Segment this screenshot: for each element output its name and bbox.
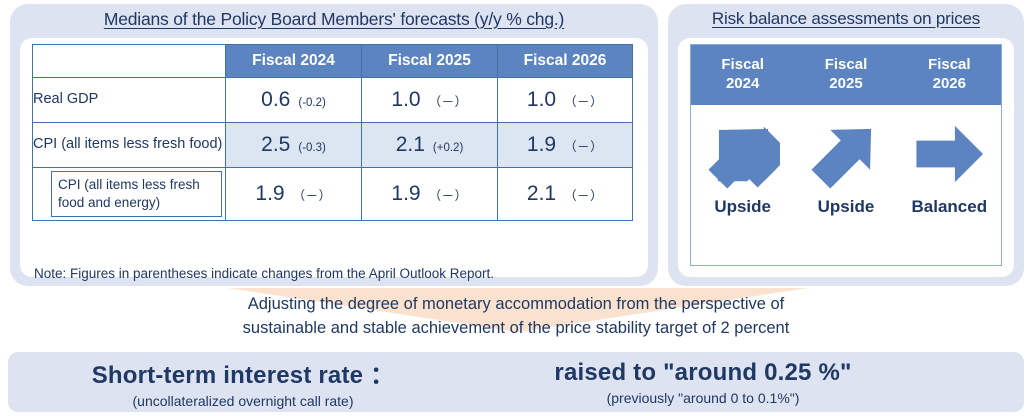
table-header-row: Fiscal 2024 Fiscal 2025 Fiscal 2026 bbox=[33, 45, 633, 78]
change: (-0.2) bbox=[298, 97, 325, 109]
risk-label-fiscal-2026: Balanced bbox=[912, 197, 988, 217]
policy-rate-bar: Short-term interest rate ： (uncollateral… bbox=[8, 352, 1024, 412]
table-corner-cell bbox=[33, 45, 226, 78]
risk-column-header-fiscal-2026: Fiscal 2026 bbox=[898, 45, 1001, 105]
change: （－） bbox=[564, 185, 603, 204]
cell-cpi-core-2026: 2.1 （－） bbox=[498, 168, 633, 221]
change: (-0.3) bbox=[298, 142, 325, 154]
value: 2.1 bbox=[396, 133, 425, 157]
table-note: Note: Figures in parentheses indicate ch… bbox=[34, 266, 494, 281]
risk-label-fiscal-2024: Upside bbox=[714, 197, 771, 217]
value: 1.9 bbox=[255, 182, 284, 206]
arrow-up-right-icon bbox=[706, 115, 780, 193]
row-label-cpi-less-fresh-food: CPI (all items less fresh food) bbox=[33, 123, 226, 168]
cell-real-gdp-2026: 1.0 （－） bbox=[498, 78, 633, 123]
risk-cell-fiscal-2024: Upside bbox=[691, 105, 794, 265]
risk-column-header-fiscal-2024: Fiscal 2024 bbox=[691, 45, 794, 105]
cell-cpi-2024: 2.5 (-0.3) bbox=[226, 123, 362, 168]
change: （－） bbox=[293, 185, 332, 204]
value: 2.1 bbox=[527, 182, 556, 206]
middle-caption-line1: Adjusting the degree of monetary accommo… bbox=[0, 293, 1032, 317]
table-row: CPI (all items less fresh food) 2.5 (-0.… bbox=[33, 123, 633, 168]
top-panels-area: Medians of the Policy Board Members' for… bbox=[0, 0, 1032, 288]
risk-balance-panel: Risk balance assessments on prices Fisca… bbox=[668, 4, 1024, 286]
risk-column-header-fiscal-2025: Fiscal 2025 bbox=[794, 45, 897, 105]
short-term-rate-sublabel: (uncollateralized overnight call rate) bbox=[8, 393, 478, 409]
forecast-panel-title: Medians of the Policy Board Members' for… bbox=[10, 4, 658, 30]
risk-balance-panel-title: Risk balance assessments on prices bbox=[668, 4, 1024, 29]
risk-body-row: Upside Upside bbox=[691, 105, 1001, 265]
risk-header-line2: 2025 bbox=[829, 75, 862, 94]
cell-real-gdp-2024: 0.6 (-0.2) bbox=[226, 78, 362, 123]
forecast-card: Fiscal 2024 Fiscal 2025 Fiscal 2026 Real… bbox=[20, 38, 648, 277]
change: （－） bbox=[564, 136, 603, 155]
row-label-real-gdp: Real GDP bbox=[33, 78, 226, 123]
risk-cell-fiscal-2026: Balanced bbox=[898, 105, 1001, 265]
cell-cpi-2025: 2.1 (+0.2) bbox=[362, 123, 498, 168]
cell-cpi-core-2024: 1.9 （－） bbox=[226, 168, 362, 221]
risk-balance-table: Fiscal 2024 Fiscal 2025 Fiscal 2026 bbox=[690, 44, 1002, 266]
middle-caption-area: Adjusting the degree of monetary accommo… bbox=[0, 288, 1032, 350]
column-header-fiscal-2025: Fiscal 2025 bbox=[362, 45, 498, 78]
middle-caption: Adjusting the degree of monetary accommo… bbox=[0, 293, 1032, 341]
risk-header-line1: Fiscal bbox=[928, 56, 971, 75]
risk-header-row: Fiscal 2024 Fiscal 2025 Fiscal 2026 bbox=[691, 45, 1001, 105]
rate-decision-value: raised to "around 0.25 %" bbox=[478, 359, 928, 387]
cell-cpi-core-2025: 1.9 （－） bbox=[362, 168, 498, 221]
table-row: Real GDP 0.6 (-0.2) 1.0 （－） bbox=[33, 78, 633, 123]
table-row: CPI (all items less fresh food and energ… bbox=[33, 168, 633, 221]
risk-header-line2: 2024 bbox=[726, 75, 759, 94]
value: 1.9 bbox=[391, 182, 420, 206]
change: （－） bbox=[564, 91, 603, 110]
cell-cpi-2026: 1.9 （－） bbox=[498, 123, 633, 168]
risk-header-line2: 2026 bbox=[933, 75, 966, 94]
middle-caption-line2: sustainable and stable achievement of th… bbox=[0, 317, 1032, 341]
change: (+0.2) bbox=[433, 142, 463, 154]
value: 1.9 bbox=[527, 133, 556, 157]
rate-decision-previous: (previously "around 0 to 0.1%") bbox=[478, 390, 928, 406]
row-label-cpi-less-fresh-food-energy-cell: CPI (all items less fresh food and energ… bbox=[33, 168, 226, 221]
column-header-fiscal-2024: Fiscal 2024 bbox=[226, 45, 362, 78]
column-header-fiscal-2026: Fiscal 2026 bbox=[498, 45, 633, 78]
risk-header-line1: Fiscal bbox=[825, 56, 868, 75]
risk-header-line1: Fiscal bbox=[721, 56, 764, 75]
arrow-up-right-icon bbox=[809, 115, 883, 193]
cell-real-gdp-2025: 1.0 （－） bbox=[362, 78, 498, 123]
risk-cell-fiscal-2025: Upside bbox=[794, 105, 897, 265]
short-term-rate-label: Short-term interest rate ： bbox=[8, 355, 478, 390]
change: （－） bbox=[429, 185, 468, 204]
rate-decision-block: raised to "around 0.25 %" (previously "a… bbox=[478, 359, 928, 406]
risk-balance-card: Fiscal 2024 Fiscal 2025 Fiscal 2026 bbox=[678, 38, 1014, 277]
short-term-rate-block: Short-term interest rate ： (uncollateral… bbox=[8, 355, 478, 409]
value: 1.0 bbox=[391, 88, 420, 112]
value: 2.5 bbox=[261, 133, 290, 157]
forecast-table: Fiscal 2024 Fiscal 2025 Fiscal 2026 Real… bbox=[32, 44, 633, 221]
risk-label-fiscal-2025: Upside bbox=[818, 197, 875, 217]
forecast-panel: Medians of the Policy Board Members' for… bbox=[10, 4, 658, 286]
value: 1.0 bbox=[527, 88, 556, 112]
change: （－） bbox=[429, 91, 468, 110]
arrow-right-icon bbox=[912, 115, 986, 193]
row-label-cpi-less-fresh-food-energy: CPI (all items less fresh food and energ… bbox=[51, 171, 222, 217]
value: 0.6 bbox=[261, 88, 290, 112]
